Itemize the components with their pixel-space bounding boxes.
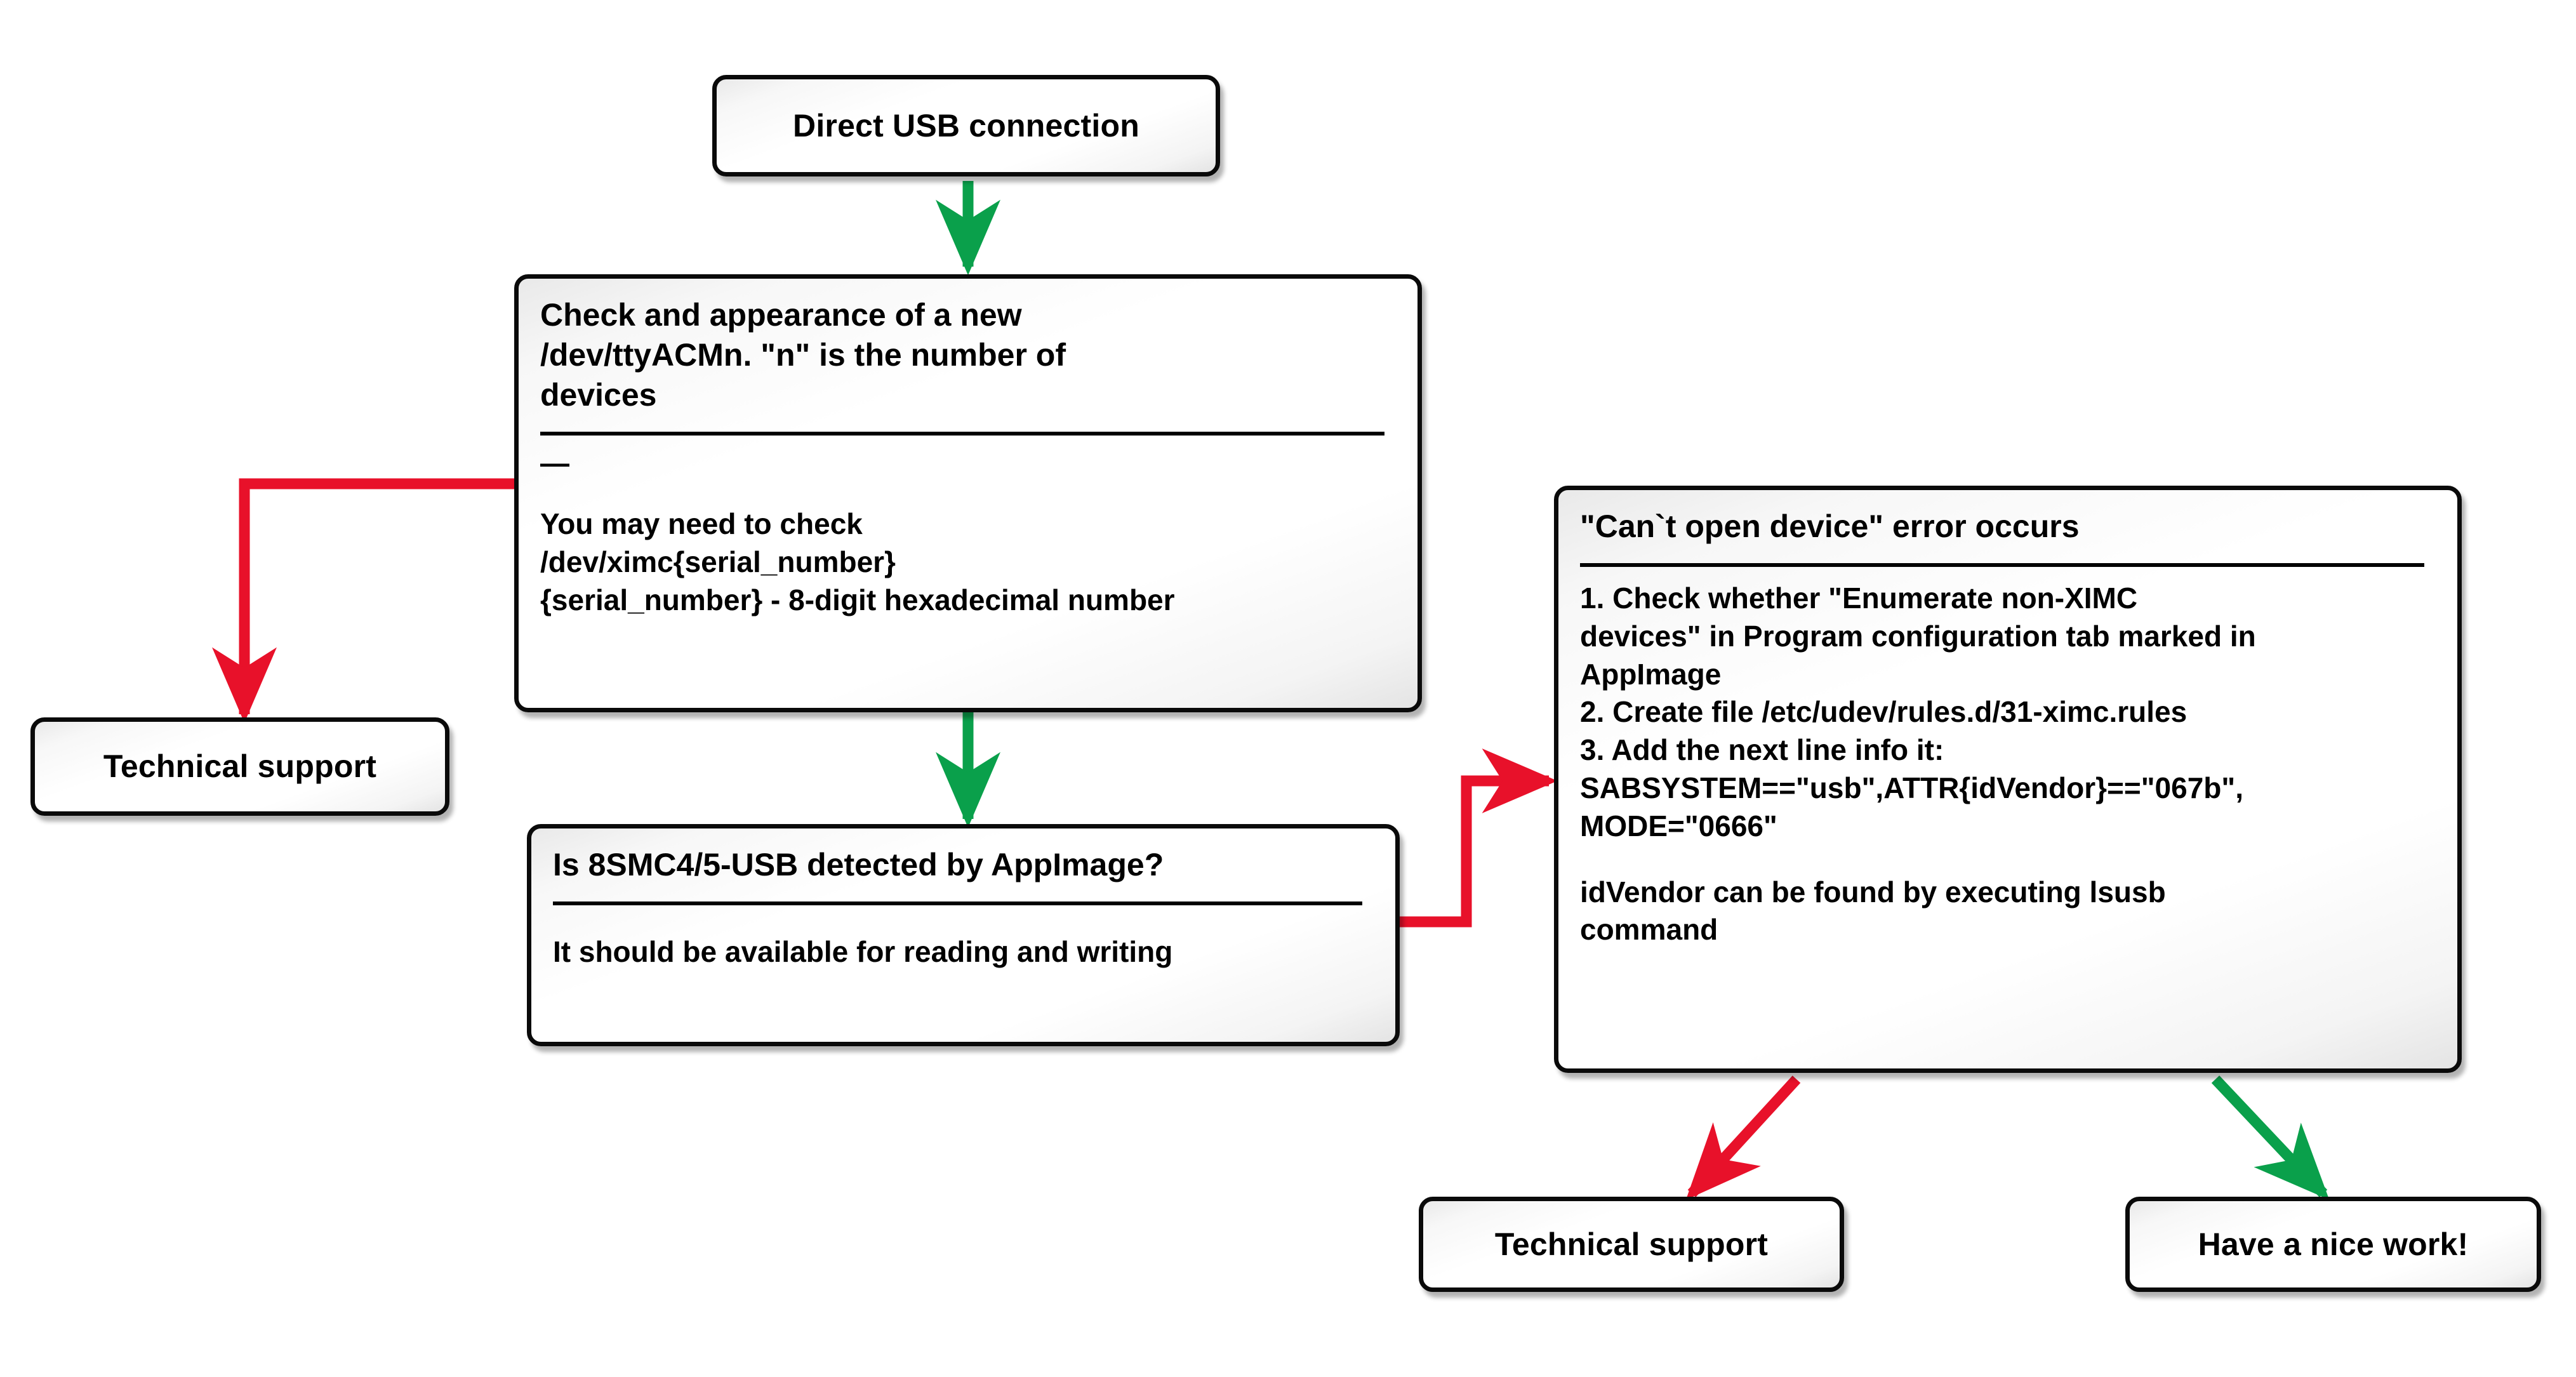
node-label: Have a nice work! <box>2198 1227 2469 1262</box>
node-check-ttyacm[interactable]: Check and appearance of a new /dev/ttyAC… <box>514 274 1422 712</box>
node-have-a-nice-work[interactable]: Have a nice work! <box>2125 1197 2541 1292</box>
node-divider <box>1580 563 2424 567</box>
node-label: Direct USB connection <box>793 109 1139 143</box>
connector-check-to-support <box>244 484 514 714</box>
node-divider <box>540 432 1384 436</box>
node-body-steps: 1. Check whether "Enumerate non-XIMC dev… <box>1580 580 2436 846</box>
node-direct-usb-connection[interactable]: Direct USB connection <box>712 75 1220 176</box>
node-label: Technical support <box>103 749 376 784</box>
node-content: Is 8SMC4/5-USB detected by AppImage? It … <box>531 828 1395 988</box>
connector-detected-to-cantopen <box>1400 781 1549 922</box>
node-title: Check and appearance of a new /dev/ttyAC… <box>540 295 1396 415</box>
flowchart-canvas: Direct USB connection Check and appearan… <box>0 0 2576 1377</box>
node-is-detected[interactable]: Is 8SMC4/5-USB detected by AppImage? It … <box>527 824 1400 1046</box>
node-technical-support-left[interactable]: Technical support <box>30 717 449 816</box>
node-cant-open-device[interactable]: "Can`t open device" error occurs 1. Chec… <box>1554 486 2462 1073</box>
node-technical-support-bottom[interactable]: Technical support <box>1419 1197 1844 1292</box>
node-divider <box>553 901 1362 905</box>
node-content: Check and appearance of a new /dev/ttyAC… <box>519 279 1417 635</box>
node-body: It should be available for reading and w… <box>553 933 1374 971</box>
connector-cantopen-to-support <box>1692 1079 1796 1194</box>
node-title: Is 8SMC4/5-USB detected by AppImage? <box>553 845 1374 885</box>
node-dash: — <box>540 448 1396 477</box>
node-content: "Can`t open device" error occurs 1. Chec… <box>1558 490 2457 966</box>
node-title: "Can`t open device" error occurs <box>1580 507 2436 547</box>
connector-cantopen-to-done <box>2215 1079 2323 1194</box>
node-body: You may need to check /dev/ximc{serial_n… <box>540 505 1396 619</box>
node-label: Technical support <box>1495 1227 1768 1262</box>
node-body-note: idVendor can be found by executing lsusb… <box>1580 874 2436 950</box>
